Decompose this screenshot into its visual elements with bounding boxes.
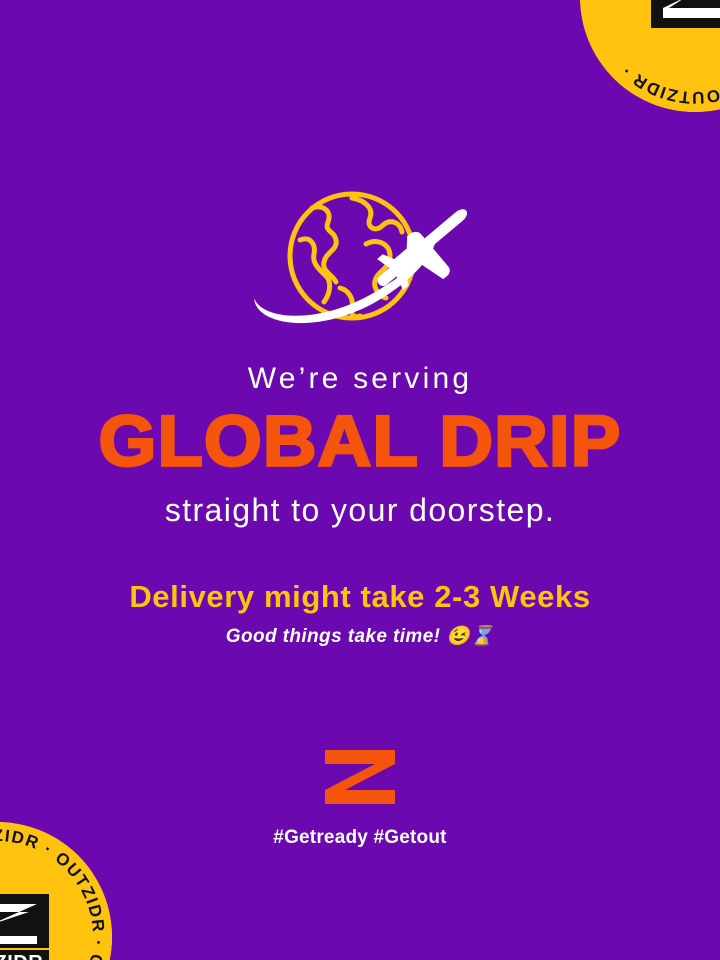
eyebrow-text: We’re serving	[0, 362, 720, 395]
outzidr-badge-top-right: OUTZIDR · OUTZIDR · OUTZIDR · OUTZIDR · …	[580, 0, 720, 112]
badge-wordmark: OUTZIDR	[0, 952, 43, 960]
hashtags-text: #Getready #Getout	[0, 827, 720, 849]
headline-text: GLOBAL DRIP	[0, 405, 720, 478]
globe-airplane-illustration	[240, 178, 480, 343]
subhead-text: straight to your doorstep.	[0, 492, 720, 529]
tagline-text: Good things take time! 😉⌛	[0, 626, 720, 649]
badge-center-z	[651, 0, 720, 28]
delivery-estimate-text: Delivery might take 2-3 Weeks	[0, 579, 720, 615]
z-logo-icon	[321, 748, 399, 806]
copy-block: We’re serving GLOBAL DRIP straight to yo…	[0, 362, 720, 649]
promo-poster: OUTZIDR · OUTZIDR · OUTZIDR · OUTZIDR · …	[0, 0, 720, 960]
badge-center-logo: OUTZIDR	[0, 894, 49, 960]
footer-brand: #Getready #Getout	[0, 748, 720, 849]
globe-icon	[290, 194, 414, 318]
